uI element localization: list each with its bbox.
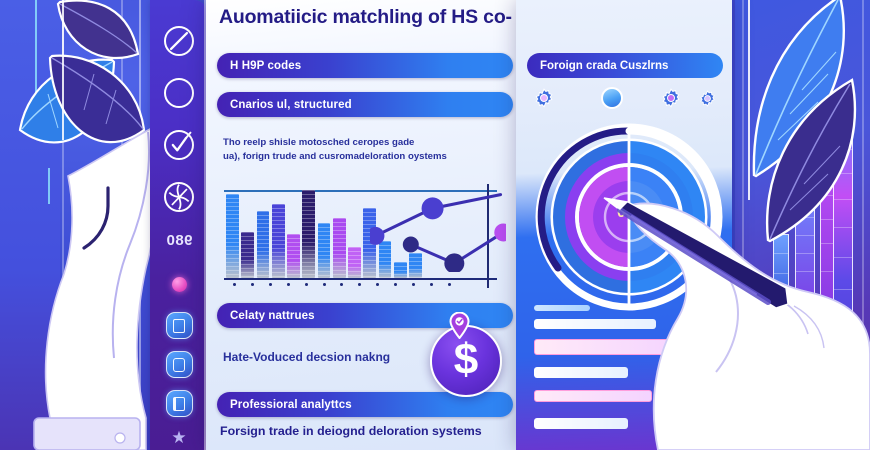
tag-pill-hs-codes-label: H H9P codes <box>230 60 301 72</box>
leaf-decor-left-3 <box>56 0 142 72</box>
chart-bar <box>333 218 346 278</box>
sidebar-item-no-entry-icon[interactable] <box>164 26 194 56</box>
chart-tick <box>387 283 405 286</box>
chart-marker <box>444 253 464 272</box>
sidebar-item-note-icon[interactable] <box>166 390 193 417</box>
gear-icon[interactable] <box>699 90 716 107</box>
chart-tick <box>280 283 298 286</box>
chart-bar-texture <box>333 218 346 278</box>
gear-icon[interactable] <box>534 88 554 108</box>
leaf-stem-right <box>748 0 750 200</box>
chart-bar <box>226 194 239 278</box>
feature-description: Hate-Voduced decsion nakng <box>223 350 433 365</box>
chart-bar <box>241 232 254 278</box>
feature-pill-quality-label: Celaty nattrues <box>230 310 315 322</box>
chart-marker <box>370 227 384 245</box>
sidebar-item-status-dot[interactable] <box>172 277 187 292</box>
card-footer-text: Forsign trade in deiognd deloration syst… <box>220 424 540 438</box>
right-panel-pill[interactable]: Foroign crada Cuszlrns <box>527 53 723 78</box>
map-pin-icon <box>449 312 470 339</box>
sidebar-item-document-icon[interactable] <box>166 312 193 339</box>
chart-bar-texture <box>272 204 285 278</box>
chart-marker <box>422 197 444 219</box>
chart-line-overlay <box>370 186 506 272</box>
chart-bar <box>257 211 270 278</box>
chart-bar-texture <box>287 234 300 278</box>
tag-pill-hs-codes[interactable]: H H9P codes <box>217 53 513 78</box>
open-hand-illustration <box>34 118 164 450</box>
right-panel-pill-label: Foroign crada Cuszlrns <box>540 60 668 72</box>
sidebar-item-check-circle-icon[interactable] <box>164 130 194 160</box>
sidebar-item-globe-icon[interactable] <box>164 182 194 212</box>
chart-bar <box>318 223 331 278</box>
chart-tick <box>315 283 333 286</box>
currency-symbol: $ <box>454 338 478 382</box>
feature-pill-analytics-label: Professioral analyttcs <box>230 399 352 411</box>
chart-tick <box>404 283 422 286</box>
chart-bar <box>287 234 300 278</box>
stylus-pen <box>598 196 794 314</box>
chart-tick <box>369 283 387 286</box>
chart-bar <box>348 247 361 278</box>
tag-pill-structured-label: Cnarios ul, structured <box>230 99 352 111</box>
sidebar-counter: 980 <box>166 232 193 249</box>
chart-tick <box>351 283 369 286</box>
chart-tick <box>244 283 262 286</box>
chart-bar-texture <box>348 247 361 278</box>
chart-bar <box>302 190 315 278</box>
chart-bar-texture <box>302 190 315 278</box>
left-toolbar[interactable]: 980 ★ <box>150 0 208 450</box>
chart-bar-texture <box>318 223 331 278</box>
sidebar-item-star-icon[interactable]: ★ <box>171 429 186 446</box>
sidebar-item-layers-icon[interactable] <box>166 351 193 378</box>
bar-chart <box>222 184 507 288</box>
chart-bar <box>272 204 285 278</box>
chart-marker <box>403 236 419 252</box>
gear-icon[interactable] <box>661 88 681 108</box>
card-body-text: Tho reelp shisle motosched ceropes gade … <box>223 136 523 164</box>
chart-tick <box>297 283 315 286</box>
chart-ticks <box>226 283 458 286</box>
form-row-label[interactable] <box>534 305 590 311</box>
chart-tick <box>226 283 244 286</box>
dial-knob[interactable] <box>601 87 623 109</box>
chart-bar-texture <box>257 211 270 278</box>
chart-tick <box>262 283 280 286</box>
chart-tick <box>422 283 440 286</box>
chart-bar-texture <box>241 232 254 278</box>
chart-bar-texture <box>226 194 239 278</box>
sidebar-item-circle-icon[interactable] <box>164 78 194 108</box>
chart-tick <box>440 283 458 286</box>
tag-pill-structured[interactable]: Cnarios ul, structured <box>217 92 513 117</box>
screenshot-root: 980 ★ Auomatiicic matchling of HS co- H … <box>0 0 870 450</box>
chart-tick <box>333 283 351 286</box>
main-card: Auomatiicic matchling of HS co- H H9P co… <box>206 0 526 450</box>
